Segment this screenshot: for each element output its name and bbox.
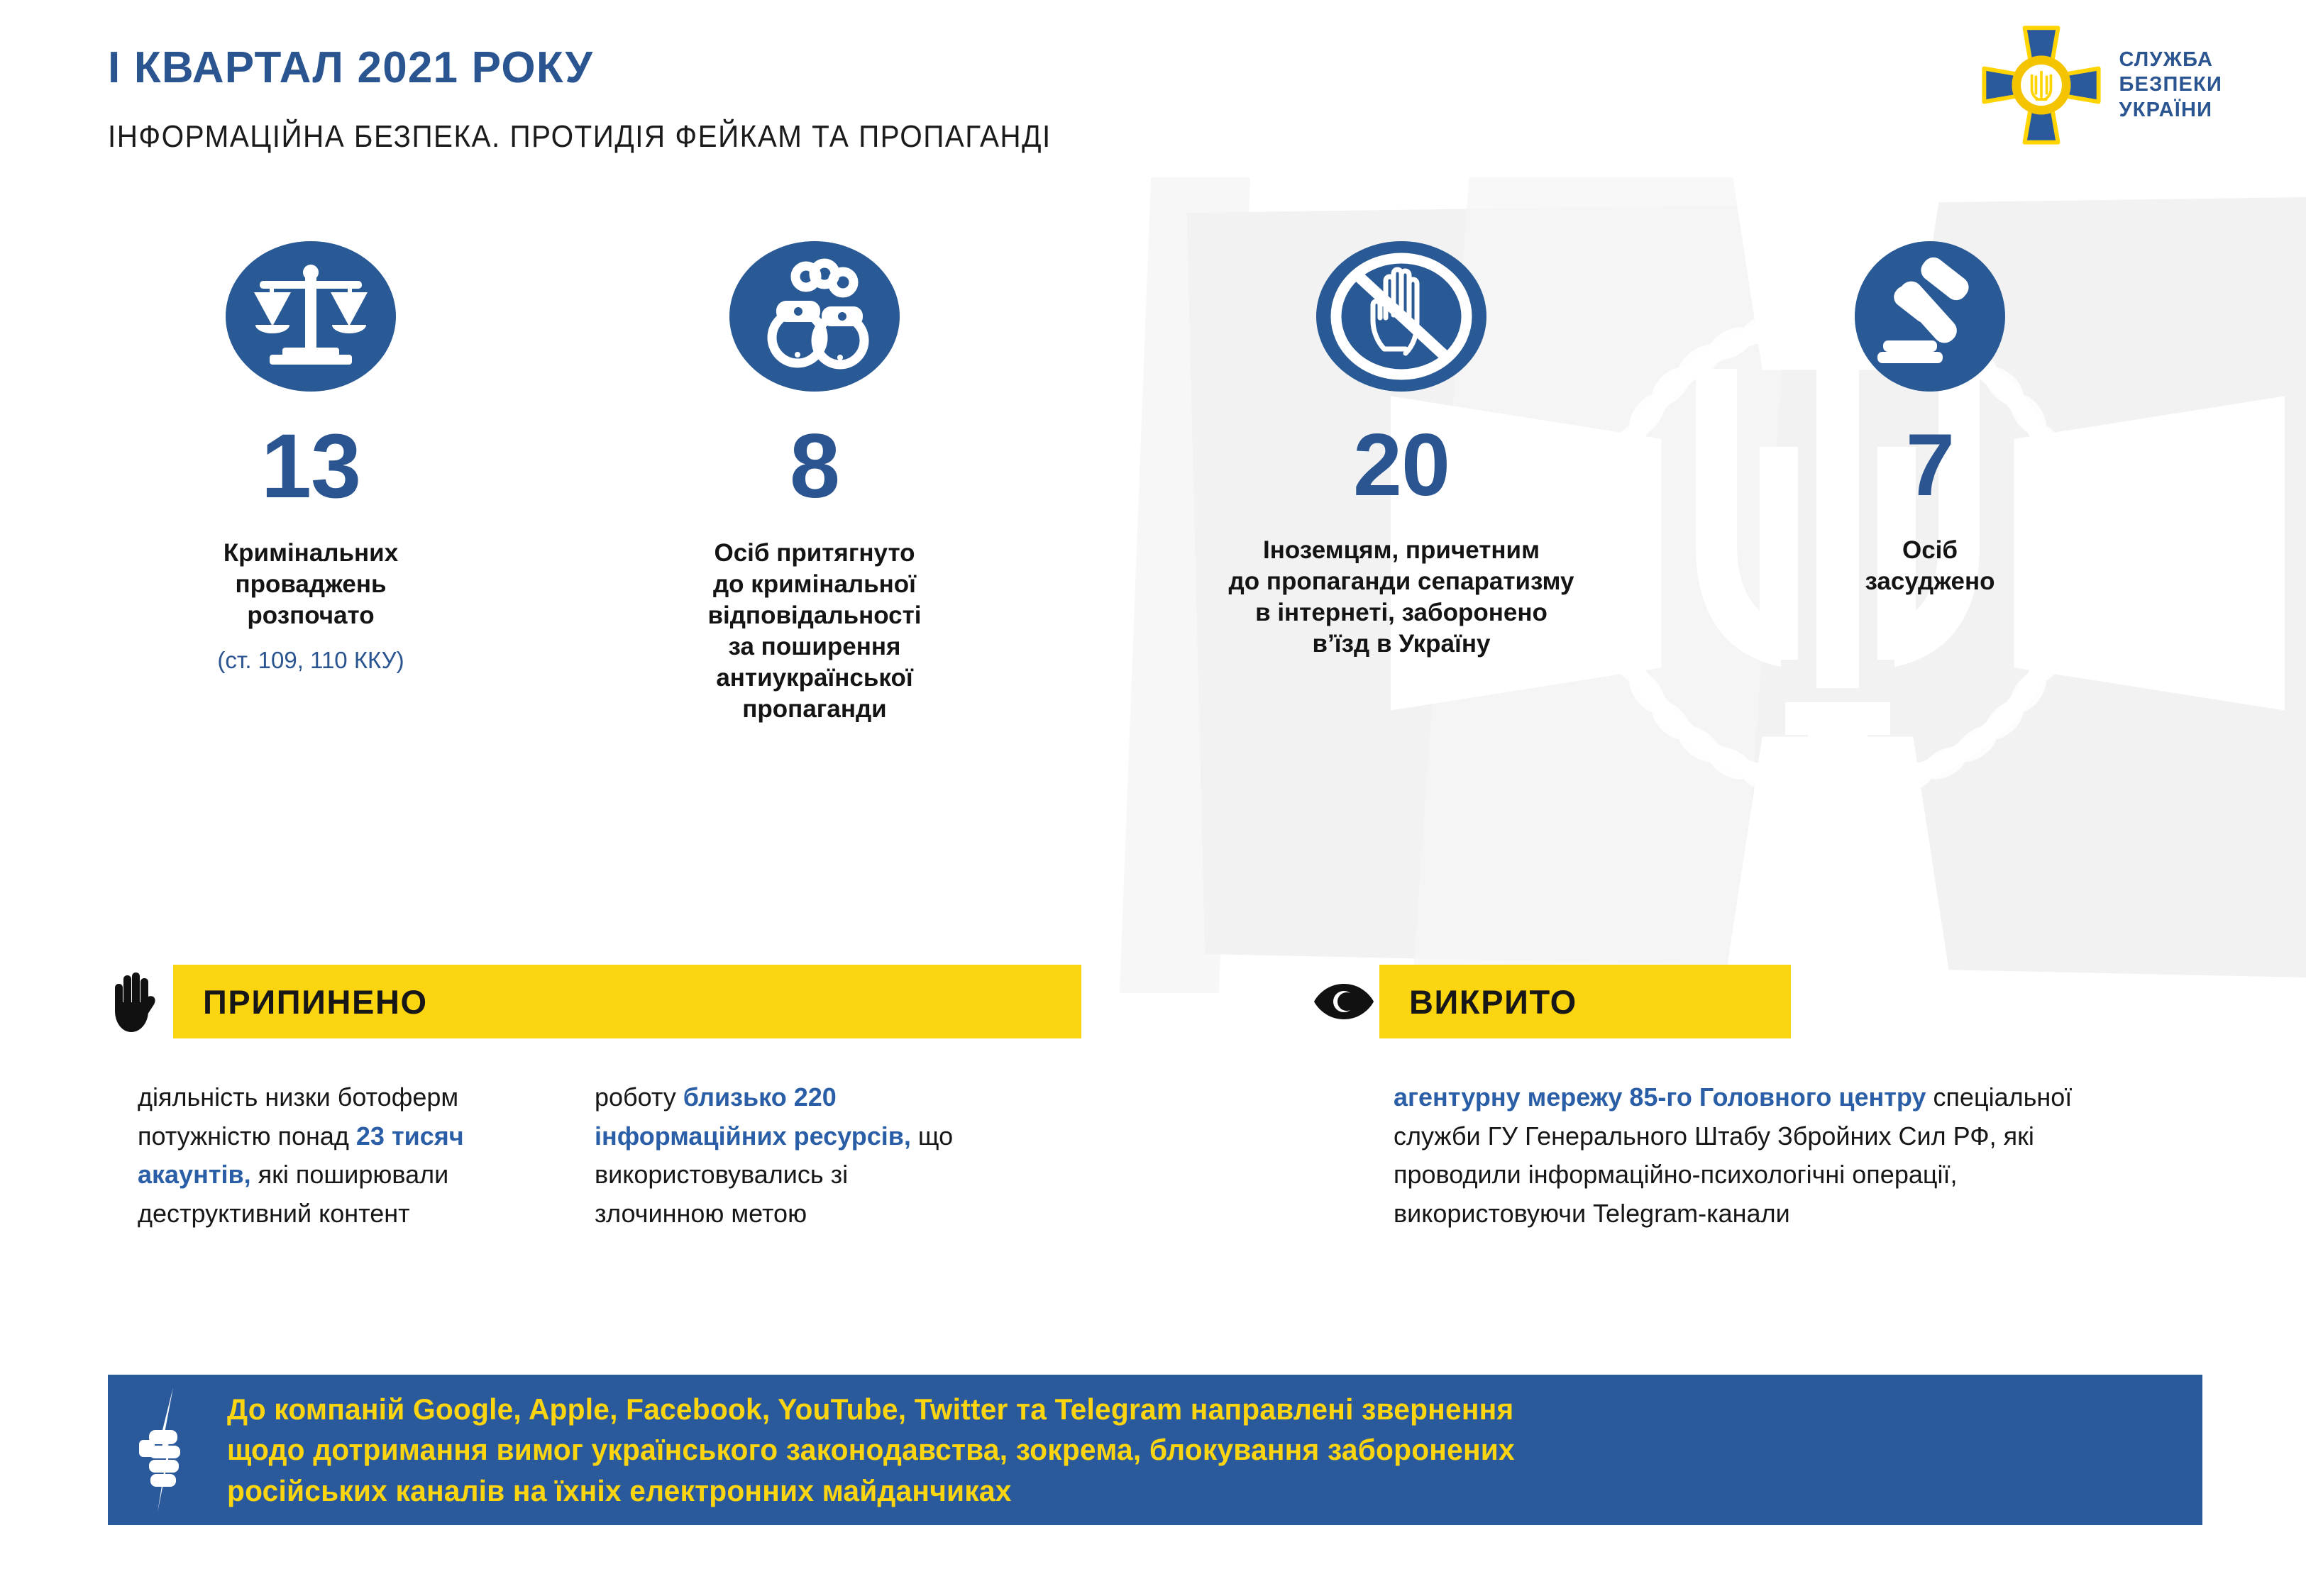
bottom-banner-text: До компаній Google, Apple, Facebook, You… <box>227 1389 1515 1510</box>
stat-label: Осіб засуджено <box>1703 535 2157 597</box>
stat-number: 13 <box>84 421 538 512</box>
stat-card-persons-prosecuted: 8 Осіб притягнуто до кримінальної відпов… <box>587 241 1042 726</box>
no-entry-hand-icon <box>1316 241 1486 392</box>
eye-icon-wrapper <box>1314 982 1379 1021</box>
statistics-row: 13 Кримінальних проваджень розпочато (ст… <box>0 241 2306 958</box>
stat-number: 20 <box>1142 421 1660 509</box>
page-title: I КВАРТАЛ 2021 РОКУ <box>108 43 593 93</box>
stat-note: (ст. 109, 110 ККУ) <box>84 647 538 674</box>
sbu-logo-line-3: УКРАЇНИ <box>2119 98 2223 123</box>
stat-label: Іноземцям, причетним до пропаганди сепар… <box>1142 535 1660 660</box>
stat-card-persons-convicted: 7 Осіб засуджено <box>1703 241 2157 597</box>
page-header: I КВАРТАЛ 2021 РОКУ ІНФОРМАЦІЙНА БЕЗПЕКА… <box>0 0 2306 177</box>
stat-icon-wrapper <box>587 241 1042 392</box>
fist-with-lightning-icon-wrapper <box>108 1387 227 1512</box>
fist-with-lightning-icon <box>133 1387 202 1512</box>
sbu-logo-line-1: СЛУЖБА <box>2119 48 2223 72</box>
section-banner-exposed: ВИКРИТО <box>1379 965 1791 1038</box>
section-header: ПРИПИНЕНО <box>108 965 1158 1038</box>
section-body: діяльність низки ботоферм потужністю пон… <box>108 1078 1158 1234</box>
eye-icon <box>1314 982 1374 1021</box>
sbu-logo-line-2: БЕЗПЕКИ <box>2119 72 2223 97</box>
stat-number: 7 <box>1703 421 2157 509</box>
stat-icon-wrapper <box>84 241 538 392</box>
section-text-column: роботу близько 220 інформаційних ресурсі… <box>595 1078 978 1234</box>
stat-number: 8 <box>587 421 1042 512</box>
section-text-column: діяльність низки ботоферм потужністю пон… <box>108 1078 548 1234</box>
gavel-icon <box>1850 241 2009 392</box>
sbu-logo-text: СЛУЖБА БЕЗПЕКИ УКРАЇНИ <box>2119 48 2223 123</box>
text-highlight: агентурну мережу 85-го Головного центру <box>1394 1082 1926 1112</box>
section-banner-stopped: ПРИПИНЕНО <box>173 965 1081 1038</box>
stat-card-foreigners-banned: 20 Іноземцям, причетним до пропаганди се… <box>1142 241 1660 660</box>
section-body: агентурну мережу 85-го Головного центру … <box>1314 1078 2236 1234</box>
text-prefix: роботу <box>595 1082 683 1112</box>
sbu-logo: СЛУЖБА БЕЗПЕКИ УКРАЇНИ <box>1982 26 2223 145</box>
bottom-appeal-banner: До компаній Google, Apple, Facebook, You… <box>108 1375 2202 1525</box>
stat-card-criminal-proceedings: 13 Кримінальних проваджень розпочато (ст… <box>84 241 538 674</box>
section-banner-label: ПРИПИНЕНО <box>203 982 428 1021</box>
stop-hand-icon-wrapper <box>108 971 173 1032</box>
stat-icon-wrapper <box>1703 241 2157 392</box>
page-subtitle: ІНФОРМАЦІЙНА БЕЗПЕКА. ПРОТИДІЯ ФЕЙКАМ ТА… <box>108 119 1052 155</box>
section-stopped: ПРИПИНЕНО діяльність низки ботоферм поту… <box>108 965 1158 1234</box>
stat-icon-wrapper <box>1142 241 1660 392</box>
scales-of-justice-icon <box>226 241 396 392</box>
stat-label: Кримінальних проваджень розпочато <box>84 538 538 631</box>
sbu-cross-emblem-icon <box>1982 26 2101 145</box>
section-text-column: агентурну мережу 85-го Головного центру … <box>1314 1078 2109 1234</box>
section-header: ВИКРИТО <box>1314 965 2236 1038</box>
section-banner-label: ВИКРИТО <box>1409 982 1577 1021</box>
stop-hand-icon <box>108 971 158 1032</box>
stat-label: Осіб притягнуто до кримінальної відповід… <box>587 538 1042 726</box>
section-exposed: ВИКРИТО агентурну мережу 85-го Головного… <box>1314 965 2236 1234</box>
handcuffs-icon <box>729 241 900 392</box>
sections-row: ПРИПИНЕНО діяльність низки ботоферм поту… <box>0 965 2306 1362</box>
